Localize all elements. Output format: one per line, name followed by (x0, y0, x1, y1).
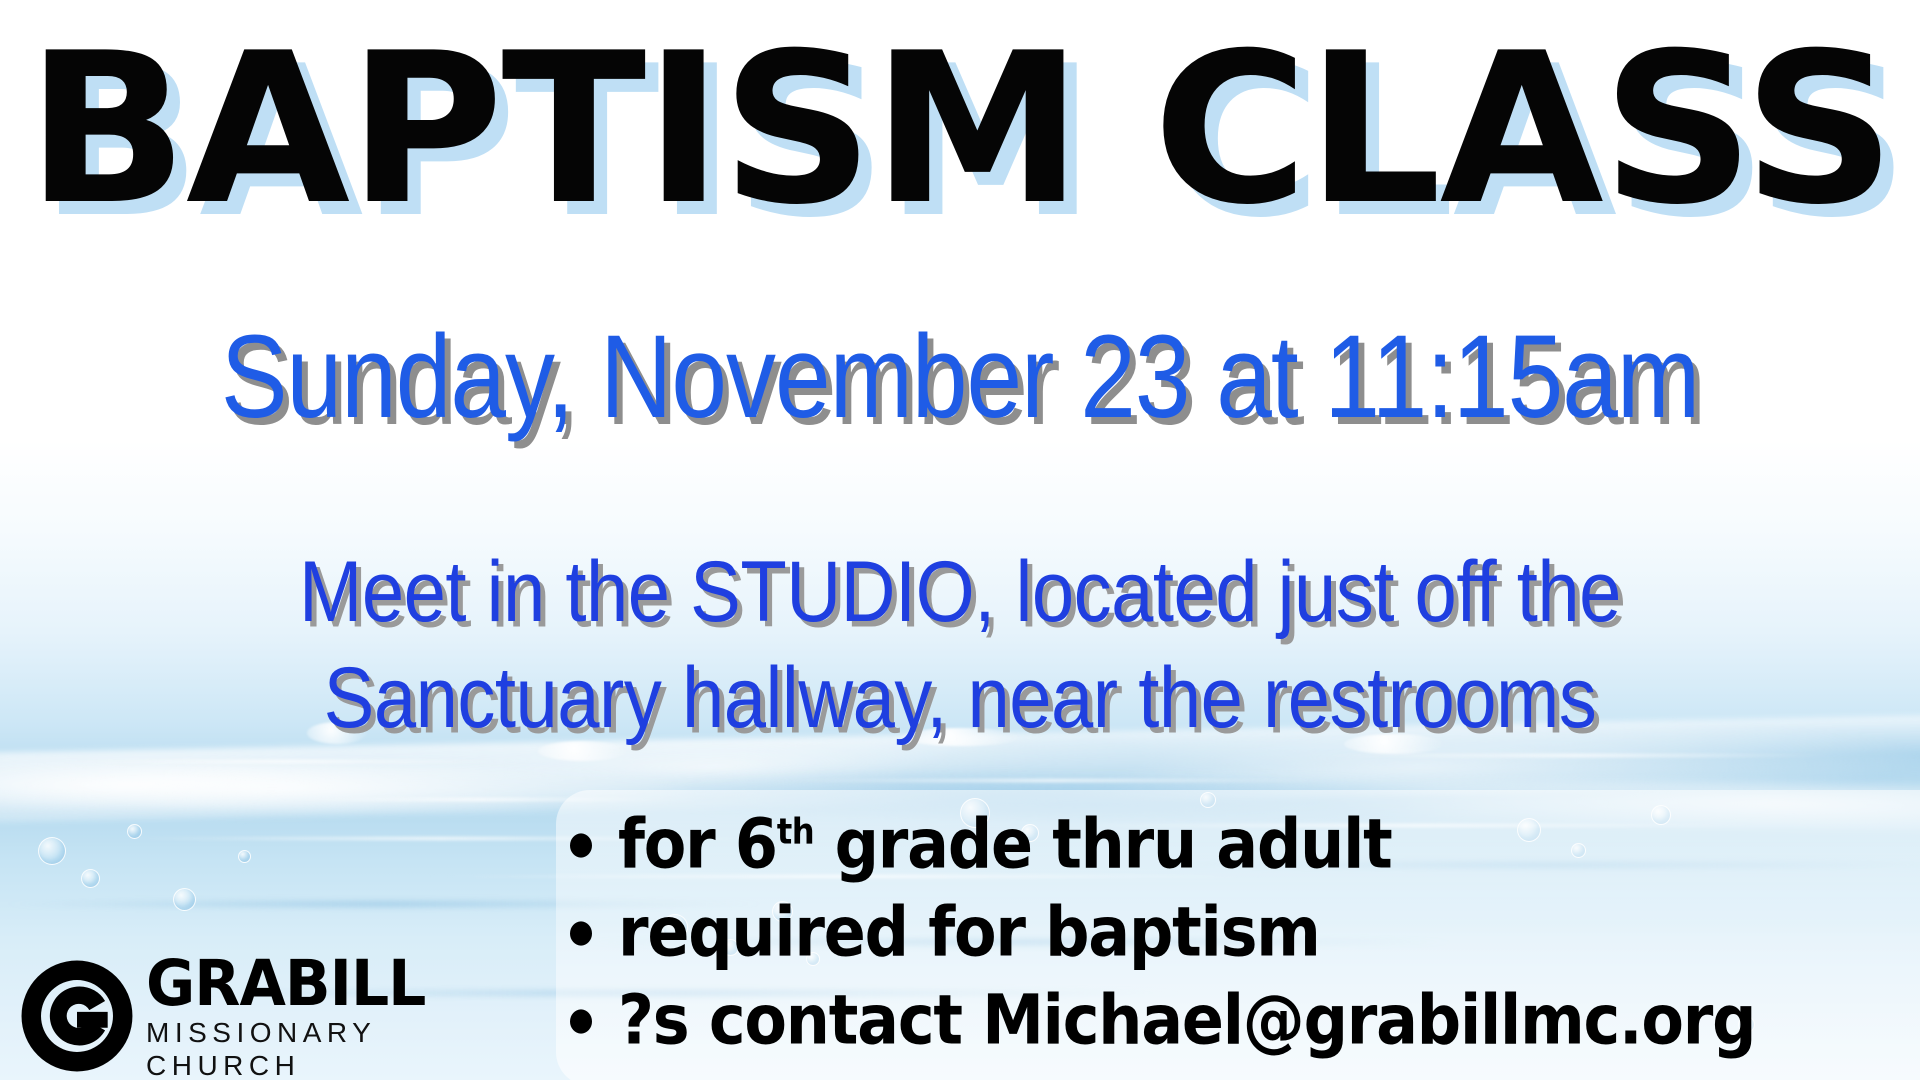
bullet-dot-icon (570, 1009, 592, 1033)
logo-name: GRABILL (146, 952, 425, 1016)
bullet-text-prefix: for 6 (618, 804, 777, 884)
event-location-line-2: Sanctuary hallway, near the restrooms (0, 646, 1920, 752)
baptism-class-flyer: BAPTISM CLASS Sunday, November 23 at 11:… (0, 0, 1920, 1080)
bullet-dot-icon (570, 833, 592, 857)
event-location: Meet in the STUDIO, located just off the… (0, 540, 1920, 751)
church-logo: GRABILL MISSIONARY CHURCH (18, 952, 425, 1080)
water-ripple (1306, 754, 1844, 757)
logo-wordmark: GRABILL MISSIONARY CHURCH (146, 952, 425, 1080)
water-bubble (173, 888, 196, 911)
logo-subtitle-missionary: MISSIONARY (146, 1019, 425, 1047)
bullet-dot-icon (570, 921, 592, 945)
bullet-text-prefix: required for baptism (618, 892, 1320, 972)
bullet-text-suffix: grade thru adult (814, 804, 1391, 884)
details-list: for 6th grade thru adult required for ba… (556, 796, 1920, 1060)
water-ripple (38, 760, 537, 763)
list-item: for 6th grade thru adult (556, 796, 1920, 893)
bullet-text-superscript: th (777, 811, 814, 853)
bullet-text-prefix: ?s contact Michael@grabillmc.org (618, 980, 1755, 1060)
logo-subtitle-church: CHURCH (146, 1052, 425, 1080)
details-panel: for 6th grade thru adult required for ba… (556, 790, 1920, 1080)
water-bubble (238, 850, 251, 863)
water-bubble (127, 824, 142, 839)
list-item: ?s contact Michael@grabillmc.org (556, 972, 1920, 1069)
event-datetime: Sunday, November 23 at 11:15am (0, 318, 1920, 436)
page-title: BAPTISM CLASS (0, 26, 1920, 234)
water-bubble (81, 869, 100, 888)
list-item: required for baptism (556, 884, 1920, 981)
water-bubble (38, 837, 66, 865)
event-location-line-1: Meet in the STUDIO, located just off the (0, 540, 1920, 646)
grabill-g-mark-icon (18, 957, 136, 1075)
